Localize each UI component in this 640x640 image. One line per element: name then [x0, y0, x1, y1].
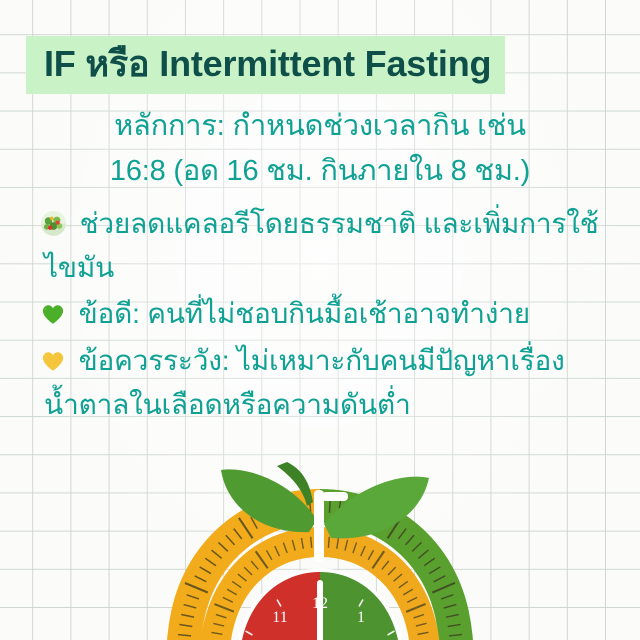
principle-block: หลักการ: กำหนดช่วงเวลากิน เช่น 16:8 (อด …: [0, 94, 640, 194]
bullet-text-benefit-calories: ช่วยลดแคลอรีโดยธรรมชาติ และเพิ่มการใช้ไข…: [44, 208, 599, 283]
apple-clock-illustration: 12 1 2 3 9 10 11 16 HOURS fasted 8 HOURS: [141, 462, 499, 640]
poster-canvas: 12 1 2 3 9 10 11 16 HOURS fasted 8 HOURS: [0, 0, 640, 640]
title-row: IF หรือ Intermittent Fasting: [0, 36, 640, 94]
bullet-item-pros: ข้อดี: คนที่ไม่ชอบกินมื้อเช้าอาจทำง่าย: [44, 292, 608, 336]
bullet-text-pros: ข้อดี: คนที่ไม่ชอบกินมื้อเช้าอาจทำง่าย: [79, 298, 530, 329]
salad-emoji: [40, 210, 67, 237]
bullet-item-cautions: ข้อควรระวัง: ไม่เหมาะกับคนมีปัญหาเรื่องน…: [44, 339, 608, 427]
bullet-text-cautions: ข้อควรระวัง: ไม่เหมาะกับคนมีปัญหาเรื่องน…: [44, 345, 565, 420]
poster-content: IF หรือ Intermittent Fasting หลักการ: กำ…: [0, 0, 640, 429]
bullet-list: ช่วยลดแคลอรีโดยธรรมชาติ และเพิ่มการใช้ไข…: [0, 194, 640, 427]
principle-line-1: หลักการ: กำหนดช่วงเวลากิน เช่น: [36, 104, 604, 149]
principle-line-2: 16:8 (อด 16 ชม. กินภายใน 8 ชม.): [36, 149, 604, 194]
page-title: IF หรือ Intermittent Fasting: [26, 36, 505, 94]
green-heart-emoji: [40, 301, 66, 327]
yellow-heart-emoji: [40, 348, 66, 374]
hour-numeral-11: 11: [272, 609, 287, 626]
bullet-item-benefit-calories: ช่วยลดแคลอรีโดยธรรมชาติ และเพิ่มการใช้ไข…: [44, 202, 608, 290]
hour-numeral-1: 1: [357, 609, 365, 626]
